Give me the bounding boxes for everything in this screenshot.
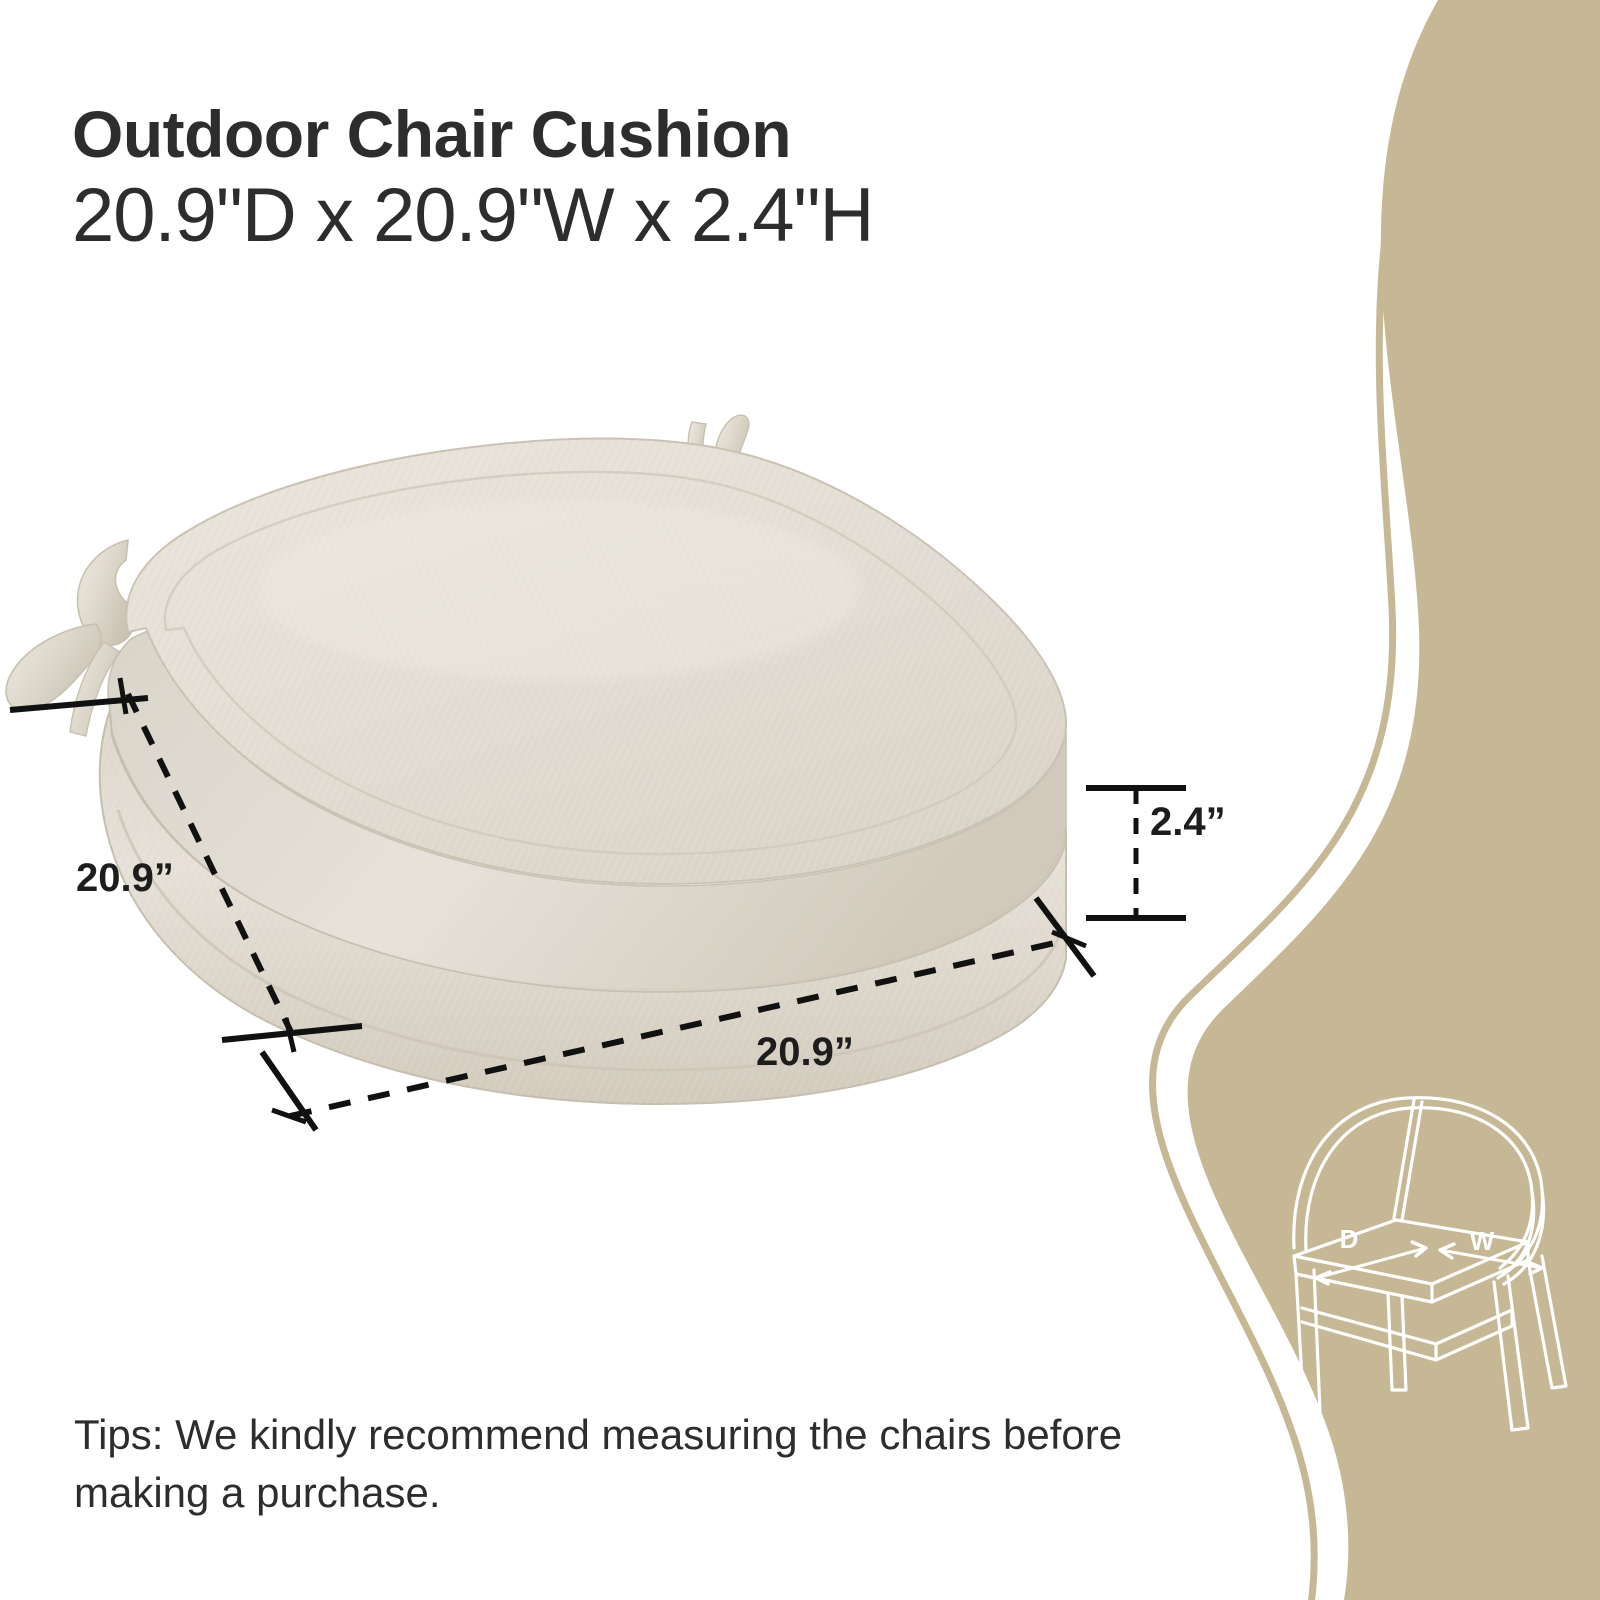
chair-center-leg	[1388, 1294, 1406, 1390]
product-name-heading: Outdoor Chair Cushion	[72, 96, 1292, 172]
chair-diagram: D W	[1236, 1070, 1580, 1440]
dimension-summary-heading: 20.9"D x 20.9"W x 2.4"H	[72, 172, 1292, 260]
chair-width-marker-label: W	[1470, 1226, 1495, 1256]
product-illustration	[0, 380, 1300, 1160]
chair-right-leg	[1494, 1276, 1528, 1430]
chair-depth-marker-label: D	[1340, 1224, 1359, 1254]
page-title: Outdoor Chair Cushion 20.9"D x 20.9"W x …	[72, 96, 1292, 260]
width-dimension-label: 20.9”	[756, 1030, 854, 1075]
tips-text: Tips: We kindly recommend measuring the …	[74, 1406, 1134, 1522]
chair-front-left-leg	[1296, 1270, 1320, 1414]
infographic-canvas: Outdoor Chair Cushion 20.9"D x 20.9"W x …	[0, 0, 1600, 1600]
depth-dimension-label: 20.9”	[76, 856, 174, 901]
height-dimension-label: 2.4”	[1150, 800, 1226, 845]
